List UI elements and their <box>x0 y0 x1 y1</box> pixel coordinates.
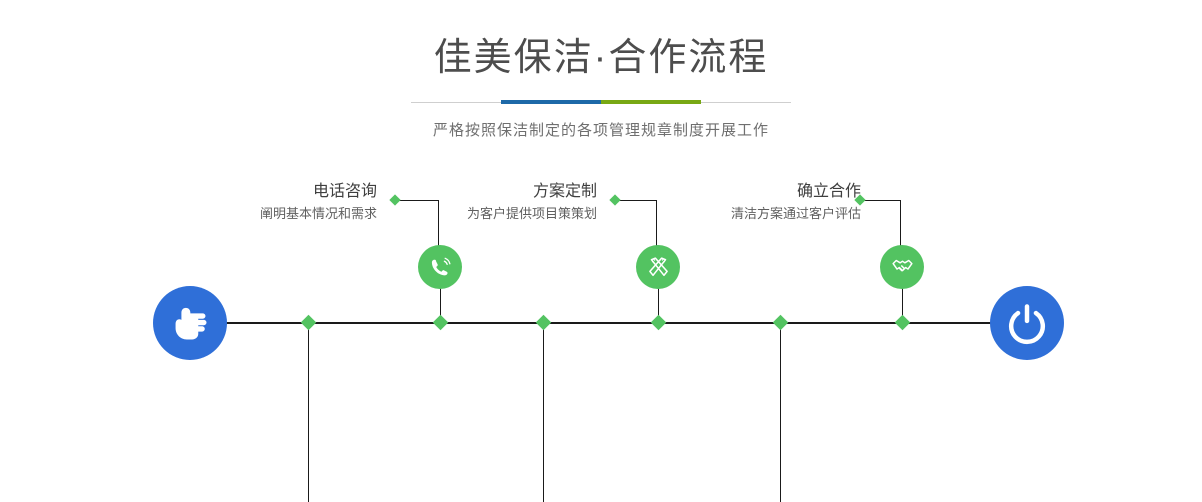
divider-segment-blue <box>501 100 601 104</box>
page-title: 佳美保洁·合作流程 <box>0 0 1202 80</box>
step-node-1[interactable] <box>418 245 462 289</box>
step-leader-vertical-3 <box>656 200 657 246</box>
axis-diamond-2 <box>301 315 317 331</box>
step-leader-horizontal-3 <box>615 200 657 201</box>
step-desc-3: 为客户提供项目策策划 <box>467 204 597 224</box>
step-node-3[interactable] <box>636 245 680 289</box>
axis-diamond-5 <box>895 315 911 331</box>
axis-diamond-6 <box>773 315 789 331</box>
axis-diamond-1 <box>433 315 449 331</box>
phone-call-icon <box>428 255 453 280</box>
step-connector-vertical-6 <box>780 323 781 502</box>
step-leader-horizontal-1 <box>395 200 439 201</box>
step-label-1: 电话咨询 阐明基本情况和需求 <box>260 182 377 224</box>
timeline-end-marker <box>990 286 1064 360</box>
title-divider <box>411 102 791 103</box>
process-timeline: 电话咨询 阐明基本情况和需求 签署协议 签署合同，项目正式启动 <box>0 150 1202 502</box>
step-leader-horizontal-5 <box>860 200 901 201</box>
power-button-icon <box>1005 301 1049 345</box>
step-title-1: 电话咨询 <box>260 182 377 202</box>
step-leader-diamond-3 <box>609 194 620 205</box>
timeline-axis <box>158 322 1044 324</box>
divider-segment-green <box>601 100 701 104</box>
step-node-5[interactable] <box>880 245 924 289</box>
step-connector-vertical-2 <box>308 323 309 502</box>
page-subtitle: 严格按照保洁制定的各项管理规章制度开展工作 <box>0 119 1202 140</box>
pencil-ruler-icon <box>646 255 671 280</box>
step-leader-vertical-5 <box>900 200 901 246</box>
pointing-hand-icon <box>168 301 212 345</box>
step-connector-vertical-4 <box>543 323 544 502</box>
step-label-3: 方案定制 为客户提供项目策策划 <box>467 182 597 224</box>
handshake-icon <box>890 255 915 280</box>
step-desc-5: 清洁方案通过客户评估 <box>731 204 861 224</box>
step-title-3: 方案定制 <box>467 182 597 202</box>
step-title-5: 确立合作 <box>731 182 861 202</box>
axis-diamond-3 <box>651 315 667 331</box>
step-desc-1: 阐明基本情况和需求 <box>260 204 377 224</box>
step-leader-vertical-1 <box>438 200 439 246</box>
cooperation-process-infographic: 佳美保洁·合作流程 严格按照保洁制定的各项管理规章制度开展工作 <box>0 0 1202 502</box>
header: 佳美保洁·合作流程 严格按照保洁制定的各项管理规章制度开展工作 <box>0 0 1202 140</box>
axis-diamond-4 <box>536 315 552 331</box>
timeline-start-marker <box>153 286 227 360</box>
step-label-5: 确立合作 清洁方案通过客户评估 <box>731 182 861 224</box>
step-leader-diamond-1 <box>389 194 400 205</box>
